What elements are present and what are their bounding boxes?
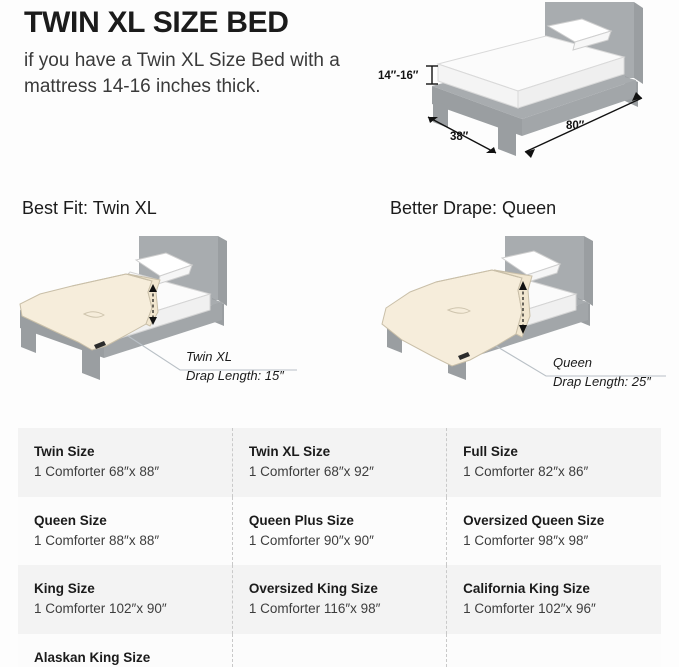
size-name: King Size	[34, 579, 232, 599]
best-fit-bed-svg: Twin XL Drap Length: 15″	[0, 228, 340, 413]
size-detail: 1 Comforter 98″x 98″	[463, 531, 661, 551]
headboard-side	[218, 236, 227, 306]
size-detail: 1 Comforter 102″x 90″	[34, 599, 232, 619]
size-name: Queen Plus Size	[249, 511, 446, 531]
size-table-body: Twin Size 1 Comforter 68″x 88″ Twin XL S…	[18, 428, 661, 667]
table-cell: Twin XL Size 1 Comforter 68″x 92″	[232, 428, 446, 497]
size-detail: 1 Comforter 68″x 88″	[34, 462, 232, 482]
page-subtitle: if you have a Twin XL Size Bed with a ma…	[24, 48, 344, 99]
width-dim-label: 38″	[450, 131, 469, 143]
hero-bed-svg: 14″-16″ 38″ 80″	[370, 0, 679, 178]
size-detail: 1 Comforter 82″x 86″	[463, 462, 661, 482]
size-detail: 1 Comforter 116″x 98″	[249, 599, 446, 619]
table-cell: Twin Size 1 Comforter 68″x 88″	[18, 428, 232, 497]
hero-bed-diagram: 14″-16″ 38″ 80″	[370, 0, 679, 178]
table-cell-empty	[447, 634, 661, 667]
height-dim-label: 14″-16″	[378, 70, 419, 82]
size-name: California King Size	[463, 579, 661, 599]
better-drape-bed-diagram: Queen Drap Length: 25″	[340, 228, 679, 413]
table-cell: Queen Size 1 Comforter 88″x 88″	[18, 497, 232, 566]
table-cell: Oversized Queen Size 1 Comforter 98″x 98…	[447, 497, 661, 566]
table-cell: Alaskan King Size 1 Comforter 130″x 120″	[18, 634, 232, 667]
table-row: Alaskan King Size 1 Comforter 130″x 120″	[18, 634, 661, 667]
size-detail: 1 Comforter 88″x 88″	[34, 531, 232, 551]
size-name: Twin Size	[34, 442, 232, 462]
best-fit-bed-diagram: Twin XL Drap Length: 15″	[0, 228, 340, 413]
comforter-size-table: Twin Size 1 Comforter 68″x 88″ Twin XL S…	[18, 428, 661, 667]
size-name: Full Size	[463, 442, 661, 462]
headboard-side	[634, 2, 643, 84]
size-name: Queen Size	[34, 511, 232, 531]
size-name: Twin XL Size	[249, 442, 446, 462]
drape-label-line1: Queen	[553, 355, 592, 370]
size-name: Alaskan King Size	[34, 648, 232, 667]
comforter-body	[382, 270, 522, 366]
size-detail: 1 Comforter 102″x 96″	[463, 599, 661, 619]
table-cell: California King Size 1 Comforter 102″x 9…	[447, 565, 661, 634]
table-cell: Full Size 1 Comforter 82″x 86″	[447, 428, 661, 497]
size-name: Oversized King Size	[249, 579, 446, 599]
table-cell: King Size 1 Comforter 102″x 90″	[18, 565, 232, 634]
section-heading-best-fit: Best Fit: Twin XL	[22, 198, 157, 219]
table-cell-empty	[232, 634, 446, 667]
drape-label-line2: Drap Length: 15″	[186, 368, 284, 383]
length-dim-label: 80″	[566, 120, 585, 132]
section-heading-better-drape: Better Drape: Queen	[390, 198, 556, 219]
headboard-side	[584, 236, 593, 306]
table-row: King Size 1 Comforter 102″x 90″ Oversize…	[18, 565, 661, 634]
drape-label-line2: Drap Length: 25″	[553, 374, 651, 389]
table-cell: Oversized King Size 1 Comforter 116″x 98…	[232, 565, 446, 634]
table-cell: Queen Plus Size 1 Comforter 90″x 90″	[232, 497, 446, 566]
table-row: Twin Size 1 Comforter 68″x 88″ Twin XL S…	[18, 428, 661, 497]
table-row: Queen Size 1 Comforter 88″x 88″ Queen Pl…	[18, 497, 661, 566]
page-title: TWIN XL SIZE BED	[24, 6, 289, 39]
better-drape-bed-svg: Queen Drap Length: 25″	[340, 228, 679, 413]
size-detail: 1 Comforter 90″x 90″	[249, 531, 446, 551]
infographic-page: TWIN XL SIZE BED if you have a Twin XL S…	[0, 0, 679, 667]
size-detail: 1 Comforter 68″x 92″	[249, 462, 446, 482]
size-name: Oversized Queen Size	[463, 511, 661, 531]
drape-label-line1: Twin XL	[186, 349, 232, 364]
